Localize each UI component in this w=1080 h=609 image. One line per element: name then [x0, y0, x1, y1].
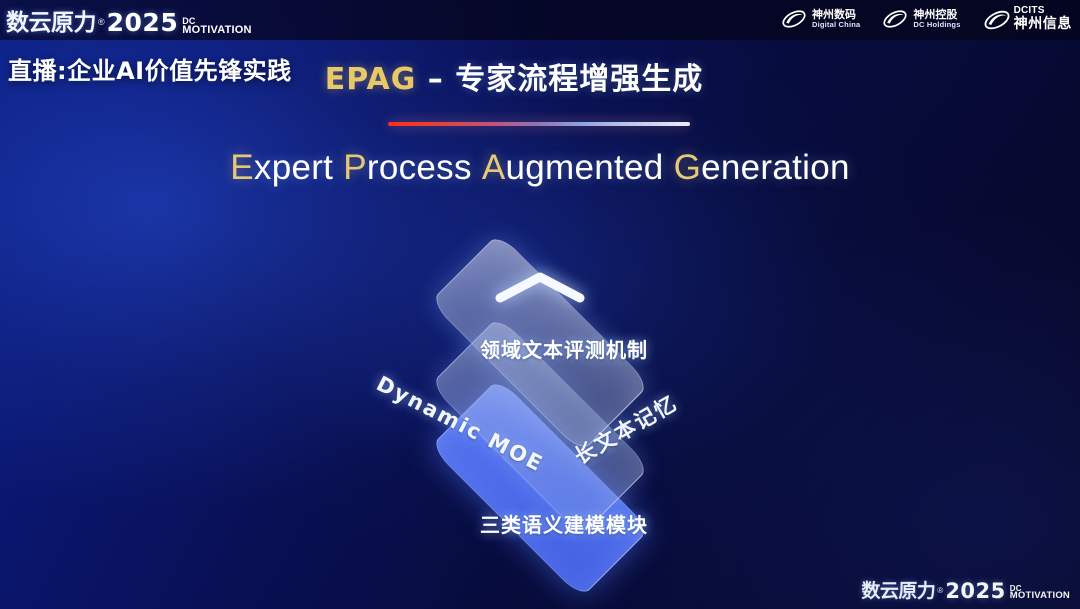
partner-logo-text: DCITS 神州信息 [1014, 6, 1072, 31]
partner-logo-text: 神州控股 DC Holdings [913, 9, 960, 28]
slide-title: EPAG – 专家流程增强生成 [0, 54, 1054, 98]
partner-logo-digital-china: 神州数码 Digital China [781, 6, 860, 32]
expansion-rest-p: rocess [367, 148, 472, 187]
partner-logo-dcits: DCITS 神州信息 [983, 6, 1072, 32]
chevron-up-icon [494, 270, 586, 304]
registered-mark-icon: ® [98, 17, 105, 27]
gradient-divider [388, 122, 690, 126]
brand-logo-top: 数云原力 ® 2025 DC MOTIVATION [6, 3, 252, 37]
brand-year: 2025 [107, 8, 179, 37]
brand-name-cn: 数云原力 [861, 576, 935, 603]
partner-name-en: DC Holdings [913, 21, 960, 29]
partner-name-en: Digital China [812, 21, 860, 29]
diagram-label-bottom: 三类语义建模模块 [324, 509, 804, 538]
expansion-initial-a: A [482, 148, 506, 187]
brand-year: 2025 [945, 579, 1005, 603]
expansion-initial-p: P [343, 148, 367, 187]
partner-logo-dc-holdings: 神州控股 DC Holdings [882, 6, 960, 32]
expansion-initial-g: G [674, 148, 702, 187]
expansion-rest-e: xpert [254, 148, 333, 187]
partner-name-cn: 神州信息 [1014, 17, 1072, 32]
title-dash: – [416, 62, 455, 97]
title-acronym: EPAG [325, 62, 417, 97]
brand-dc-line2: MOTIVATION [1010, 592, 1070, 601]
expansion-initial-e: E [230, 148, 254, 187]
acronym-expansion: Expert Process Augmented Generation [0, 148, 1080, 188]
diagram-label-top: 领域文本评测机制 [324, 334, 804, 363]
expansion-rest-a: ugmented [505, 148, 663, 187]
swirl-logo-icon [882, 6, 908, 32]
swirl-logo-icon [983, 6, 1009, 32]
layered-architecture-diagram: 领域文本评测机制 Dynamic MOE 长文本记忆 三类语义建模模块 [300, 226, 780, 566]
brand-name-cn: 数云原力 [6, 3, 96, 37]
brand-logo-watermark: 数云原力 ® 2025 DC MOTIVATION [861, 576, 1070, 603]
registered-mark-icon: ® [937, 586, 943, 595]
swirl-logo-icon [781, 6, 807, 32]
expansion-rest-g: eneration [701, 148, 850, 187]
brand-dc-motivation: DC MOTIVATION [182, 17, 251, 35]
presentation-slide: 数云原力 ® 2025 DC MOTIVATION 直播:企业AI价值先锋实践 … [0, 0, 1080, 609]
partner-logo-group: 神州数码 Digital China 神州控股 DC Holdings [781, 6, 1072, 32]
brand-dc-motivation: DC MOTIVATION [1010, 585, 1070, 601]
brand-dc-line2: MOTIVATION [182, 25, 251, 35]
partner-logo-text: 神州数码 Digital China [812, 9, 860, 28]
title-subtitle-cn: 专家流程增强生成 [455, 62, 703, 97]
